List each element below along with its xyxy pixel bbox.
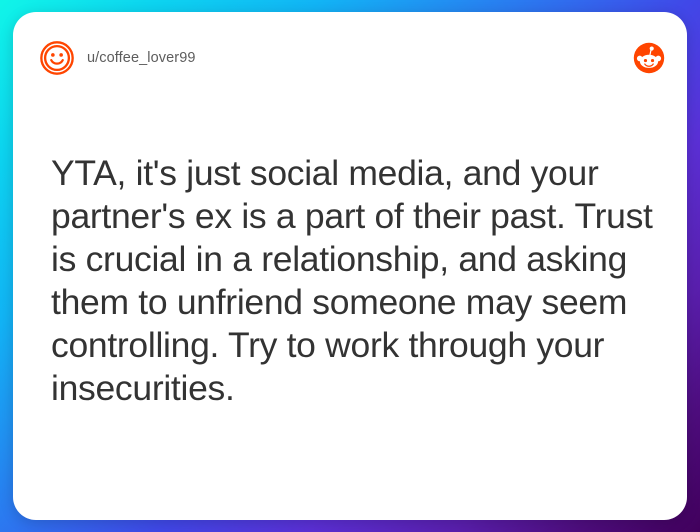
post-body-text: YTA, it's just social media, and your pa… [51,152,661,410]
reddit-comment-card: u/coffee_lover99 YTA, it's just so [13,12,687,520]
author-username: u/coffee_lover99 [87,51,196,66]
card-header: u/coffee_lover99 [13,12,687,104]
smiley-face-avatar-icon [39,40,75,76]
author-block[interactable]: u/coffee_lover99 [39,40,633,76]
post-card-canvas: u/coffee_lover99 YTA, it's just so [0,0,700,532]
reddit-snoo-logo-icon[interactable] [633,42,665,74]
card-body: YTA, it's just social media, and your pa… [51,152,661,410]
